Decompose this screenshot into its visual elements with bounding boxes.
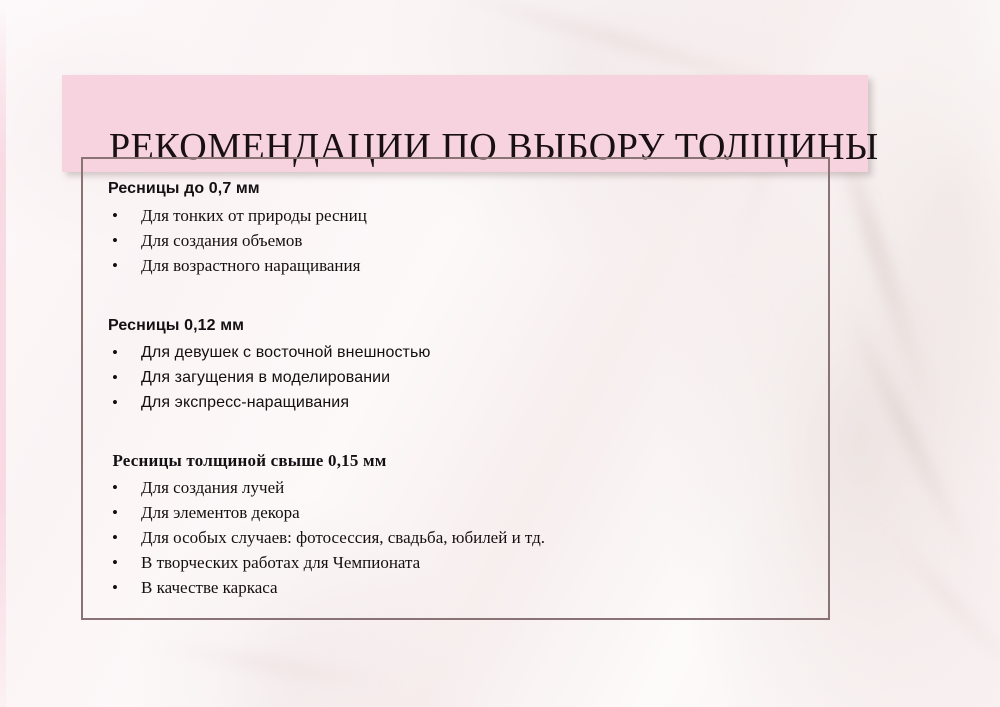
section-heading: Ресницы толщиной свыше 0,15 мм xyxy=(81,449,830,472)
left-edge-stripe xyxy=(0,0,6,707)
list-item: Для создания лучей xyxy=(81,475,830,500)
list-item: Для возрастного наращивания xyxy=(81,253,830,278)
section-lashes-over-015: Ресницы толщиной свыше 0,15 мм Для созда… xyxy=(81,449,830,600)
list-item: Для загущения в моделировании xyxy=(81,365,830,390)
list-item: В творческих работах для Чемпионата xyxy=(81,550,830,575)
list-item: Для тонких от природы ресниц xyxy=(81,203,830,228)
section-heading: Ресницы 0,12 мм xyxy=(81,314,830,337)
bullet-list: Для девушек с восточной внешностью Для з… xyxy=(81,340,830,415)
list-item: Для элементов декора xyxy=(81,500,830,525)
section-lashes-012: Ресницы 0,12 мм Для девушек с восточной … xyxy=(81,314,830,415)
marble-vein xyxy=(151,640,410,693)
marble-vein xyxy=(874,516,1000,694)
content-sections: Ресницы до 0,7 мм Для тонких от природы … xyxy=(81,157,830,620)
list-item: Для создания объемов xyxy=(81,228,830,253)
list-item: Для девушек с восточной внешностью xyxy=(81,340,830,365)
list-item: Для экспресс-наращивания xyxy=(81,390,830,415)
list-item: Для особых случаев: фотосессия, свадьба,… xyxy=(81,525,830,550)
presentation-slide: РЕКОМЕНДАЦИИ ПО ВЫБОРУ ТОЛЩИНЫ Ресницы д… xyxy=(0,0,1000,707)
bullet-list: Для тонких от природы ресниц Для создани… xyxy=(81,203,830,278)
section-lashes-up-to-07: Ресницы до 0,7 мм Для тонких от природы … xyxy=(81,177,830,278)
list-item: В качестве каркаса xyxy=(81,575,830,600)
bullet-list: Для создания лучей Для элементов декора … xyxy=(81,475,830,600)
section-heading: Ресницы до 0,7 мм xyxy=(81,177,830,200)
